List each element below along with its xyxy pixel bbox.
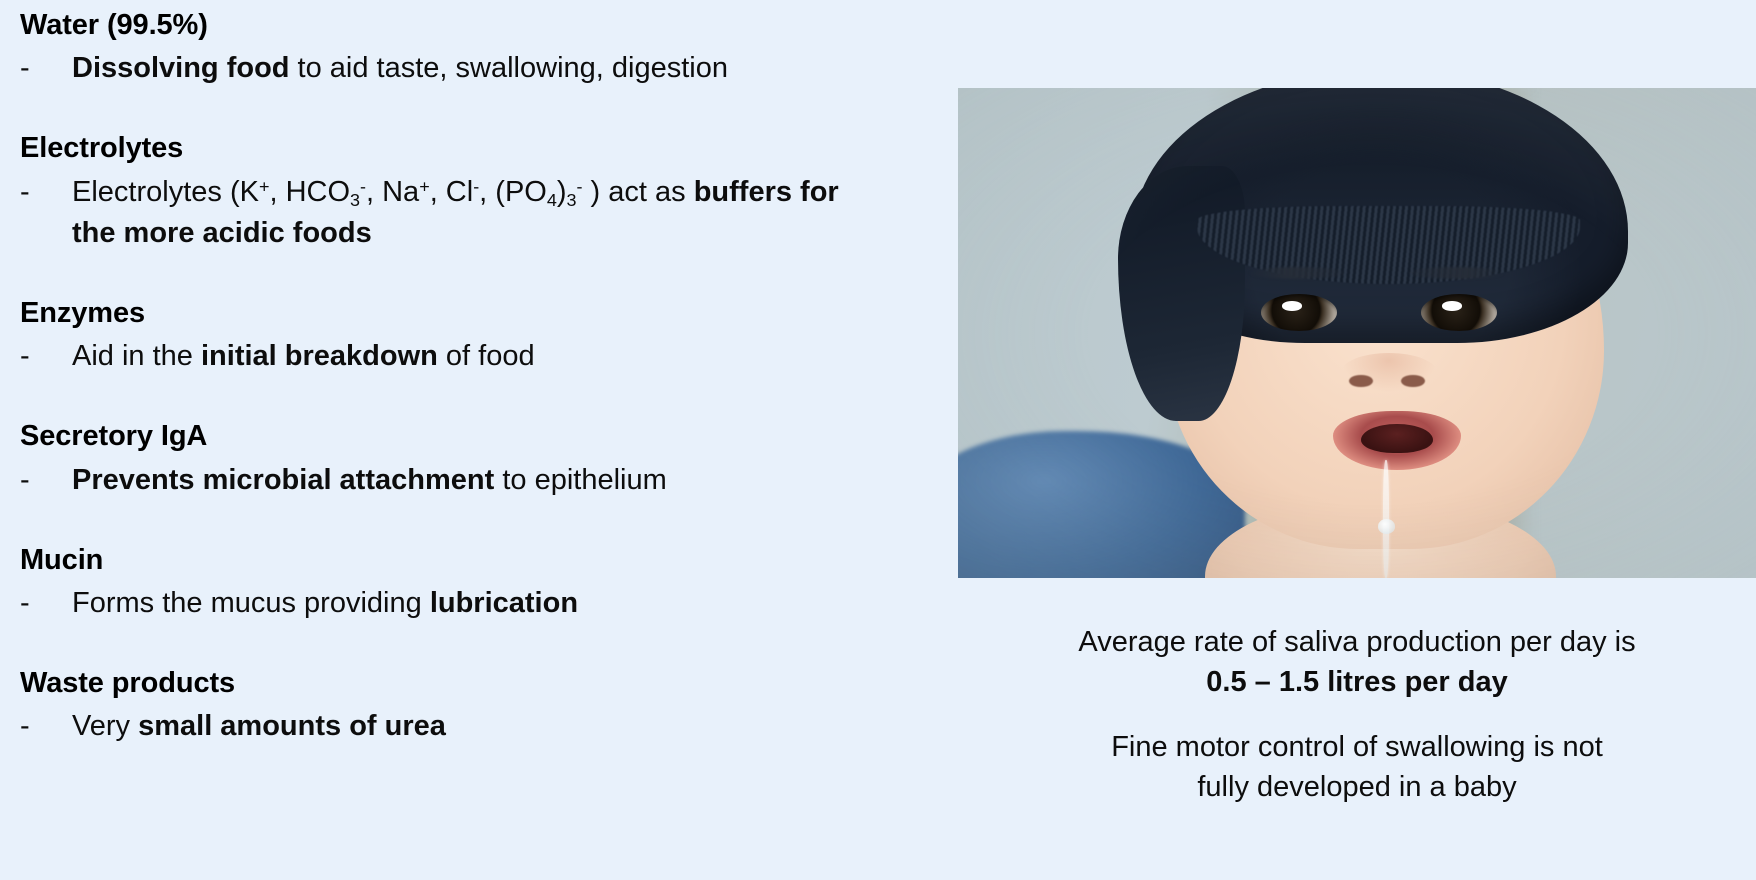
bullet-water-1-rest: to aid taste, swallowing, digestion <box>290 52 728 84</box>
spacer-after-water <box>20 89 850 131</box>
group-enzymes: Enzymes - Aid in the initial breakdown o… <box>20 296 850 377</box>
heading-waste-products: Waste products <box>20 666 850 700</box>
bullet-enzymes-a: Aid in the <box>72 340 201 372</box>
group-electrolytes: Electrolytes - Electrolytes (K+, HCO3-, … <box>20 131 850 254</box>
bullet-dash-marker: - <box>20 336 72 377</box>
bullet-dash-marker: - <box>20 583 72 624</box>
bullet-water-1-bold: Dissolving food <box>72 52 290 84</box>
bullet-waste-1: - Very small amounts of urea <box>20 706 850 747</box>
heading-water: Water (99.5%) <box>20 8 850 42</box>
chem-hco3-label: , HCO <box>269 176 350 208</box>
chem-po4-count: 3 <box>567 190 577 210</box>
heading-enzymes: Enzymes <box>20 296 850 330</box>
bullet-mucin-text: Forms the mucus providing lubrication <box>72 583 850 624</box>
group-secretory-iga: Secretory IgA - Prevents microbial attac… <box>20 419 850 500</box>
chem-na-charge: + <box>419 176 430 196</box>
bullet-waste-a: Very <box>72 710 138 742</box>
chem-hco3-subscript: 3 <box>350 190 360 210</box>
bullet-enzymes-c: of food <box>438 340 535 372</box>
chem-lead: Electrolytes (K <box>72 176 259 208</box>
caption-motor-control-line2: fully developed in a baby <box>958 767 1756 807</box>
right-panel: Average rate of saliva production per da… <box>958 0 1756 880</box>
heading-mucin: Mucin <box>20 543 850 577</box>
bullet-mucin-bold: lubrication <box>430 587 578 619</box>
bullet-enzymes-text: Aid in the initial breakdown of food <box>72 336 850 377</box>
bullet-dash-marker: - <box>20 706 72 747</box>
bullet-electrolytes-text: Electrolytes (K+, HCO3-, Na+, Cl-, (PO4)… <box>72 172 850 254</box>
bullet-iga-bold: Prevents microbial attachment <box>72 464 494 496</box>
chem-cl-label: , Cl <box>430 176 474 208</box>
caption-saliva-rate-line1: Average rate of saliva production per da… <box>958 622 1756 662</box>
group-water: Water (99.5%) - Dissolving food to aid t… <box>20 8 850 89</box>
chem-po4-open: , (PO <box>479 176 547 208</box>
bullet-water-1-text: Dissolving food to aid taste, swallowing… <box>72 48 850 89</box>
bullet-iga-text: Prevents microbial attachment to epithel… <box>72 460 850 501</box>
heading-secretory-iga: Secretory IgA <box>20 419 850 453</box>
saliva-composition-list: Water (99.5%) - Dissolving food to aid t… <box>20 8 850 872</box>
photo-vignette <box>958 88 1756 578</box>
bullet-iga-rest: to epithelium <box>494 464 667 496</box>
chem-po4-subscript: 4 <box>547 190 557 210</box>
bullet-dash-marker: - <box>20 172 72 213</box>
chem-act-as: ) act as <box>583 176 694 208</box>
baby-drooling-photo <box>958 88 1756 578</box>
bullet-dash-marker: - <box>20 48 72 89</box>
bullet-water-1: - Dissolving food to aid taste, swallowi… <box>20 48 850 89</box>
bullet-waste-bold: small amounts of urea <box>138 710 446 742</box>
heading-electrolytes: Electrolytes <box>20 131 850 165</box>
bullet-mucin-a: Forms the mucus providing <box>72 587 430 619</box>
caption-motor-control: Fine motor control of swallowing is not … <box>958 727 1756 807</box>
caption-saliva-rate-line2: 0.5 – 1.5 litres per day <box>958 662 1756 702</box>
bullet-mucin-1: - Forms the mucus providing lubrication <box>20 583 850 624</box>
bullet-iga-1: - Prevents microbial attachment to epith… <box>20 460 850 501</box>
chem-k-charge: + <box>259 176 270 196</box>
bullet-enzymes-1: - Aid in the initial breakdown of food <box>20 336 850 377</box>
bullet-enzymes-bold: initial breakdown <box>201 340 438 372</box>
spacer-after-electrolytes <box>20 254 850 296</box>
group-mucin: Mucin - Forms the mucus providing lubric… <box>20 543 850 624</box>
chem-na-label: , Na <box>366 176 419 208</box>
bullet-electrolytes-1: - Electrolytes (K+, HCO3-, Na+, Cl-, (PO… <box>20 172 850 254</box>
slide-canvas: Water (99.5%) - Dissolving food to aid t… <box>0 0 1756 880</box>
spacer-after-enzymes <box>20 377 850 419</box>
chem-po4-close: ) <box>557 176 567 208</box>
spacer-after-iga <box>20 501 850 543</box>
group-waste-products: Waste products - Very small amounts of u… <box>20 666 850 747</box>
caption-motor-control-line1: Fine motor control of swallowing is not <box>958 727 1756 767</box>
caption-saliva-rate: Average rate of saliva production per da… <box>958 622 1756 702</box>
bullet-waste-text: Very small amounts of urea <box>72 706 850 747</box>
spacer-after-mucin <box>20 624 850 666</box>
bullet-dash-marker: - <box>20 460 72 501</box>
